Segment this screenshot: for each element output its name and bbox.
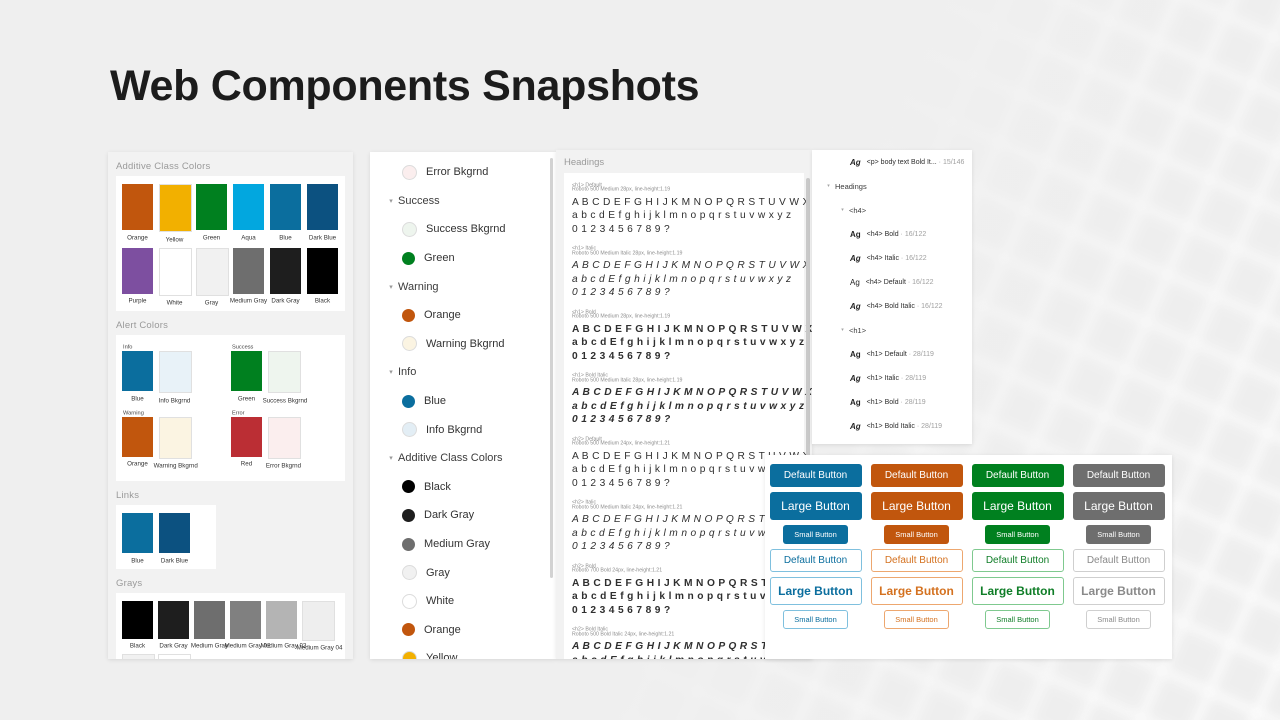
swatch-chip: [159, 513, 190, 553]
specimen-glyph-line: 0 1 2 3 4 5 6 7 8 9 ?: [572, 286, 796, 300]
swatch-label: White: [154, 299, 196, 306]
swatch-row: OrangeWarning Bkgrnd: [122, 417, 231, 468]
swatch-label: Blue: [117, 557, 159, 564]
filled-blue-default-button[interactable]: Default Button: [770, 464, 862, 487]
swatch-label: Blue: [117, 395, 159, 402]
button-cell: Default Button: [765, 549, 866, 572]
card-additive-class-colors: OrangeYellowGreenAquaBlueDark BluePurple…: [116, 176, 345, 311]
specimen-glyph-line: A B C D E F G H I J K M N O P Q R S T U …: [572, 513, 796, 527]
filled-gray-default-button[interactable]: Default Button: [1073, 464, 1165, 487]
swatch-chip: [122, 601, 153, 639]
type-specimen-block: <h1> DefaultRoboto 500 Medium 28px, line…: [572, 182, 796, 236]
color-swatch: Error Bkgrnd: [268, 417, 299, 468]
color-swatch: Warning Bkgrnd: [159, 417, 190, 468]
color-dot-icon: [402, 480, 415, 493]
button-cell: Default Button: [866, 464, 967, 487]
swatch-label: Purple: [117, 297, 159, 304]
tree-group-row[interactable]: ▾Success: [370, 187, 556, 216]
color-swatch: Orange: [122, 417, 153, 468]
filled-blue-large-button[interactable]: Large Button: [770, 492, 862, 520]
ag-preview-icon: Ag: [850, 230, 861, 239]
filled-orange-small-button[interactable]: Small Button: [884, 525, 949, 544]
type-style-name: <p> body text Bold It...: [867, 159, 937, 166]
alert-group-label: Success: [232, 343, 354, 350]
alert-color-group: ErrorRedError Bkgrnd: [231, 409, 340, 468]
specimen-glyphs: A B C D E F G H I J K M N O P Q R S T U …: [572, 513, 796, 554]
color-dot-icon: [402, 594, 417, 609]
panel-color-tree: Error Bkgrnd▾SuccessSuccess BkgrndGreen▾…: [370, 152, 556, 659]
swatch-chip: [159, 351, 192, 393]
tree-group-label: Success: [398, 195, 440, 207]
ag-preview-icon: Ag: [850, 158, 861, 167]
specimen-glyph-line: 0 1 2 3 4 5 6 7 8 9 ?: [572, 413, 796, 427]
button-cell: Large Button: [866, 577, 967, 605]
swatch-label: Black: [302, 297, 344, 304]
color-swatch: Medium Gray 03: [266, 601, 297, 650]
specimen-font-meta: Roboto 500 Medium 28px, line-height:1.19: [572, 313, 812, 320]
ag-preview-icon: Ag: [850, 302, 861, 311]
type-style-name: <h1> Italic: [867, 375, 899, 382]
color-dot-icon: [402, 309, 415, 322]
swatch-chip: [122, 513, 153, 553]
tree-color-row[interactable]: White: [370, 587, 556, 616]
swatch-chip: [307, 248, 338, 294]
type-group-row[interactable]: ▾<h2>: [812, 438, 972, 444]
section-title-additive-class-colors: Additive Class Colors: [116, 161, 353, 172]
swatch-label: Green: [191, 234, 233, 241]
specimen-font-meta: Roboto 500 Medium Italic 28px, line-heig…: [572, 250, 812, 257]
type-style-name: <h4> Bold Italic: [867, 303, 915, 310]
tree-color-row[interactable]: Black: [370, 473, 556, 502]
color-swatch: Yellow: [159, 184, 190, 241]
swatch-chip: [122, 184, 153, 230]
type-style-size: · 28/119: [907, 351, 934, 358]
color-swatch: Dark Blue: [307, 184, 338, 241]
specimen-glyph-line: a b c d E f g h i j k l m n o p q r s t …: [572, 400, 796, 414]
button-row: Default ButtonDefault ButtonDefault Butt…: [765, 549, 1172, 572]
type-specimen-block: <h1> BoldRoboto 500 Medium 28px, line-he…: [572, 309, 796, 363]
ag-preview-icon: Ag: [850, 422, 861, 431]
type-style-size: · 28/119: [899, 375, 926, 382]
tree-color-label: Medium Gray: [424, 538, 490, 550]
swatch-row: OrangeYellowGreenAquaBlueDark Blue: [122, 184, 339, 241]
type-specimen-block: <h2> Bold ItalicRoboto 500 Bold Italic 2…: [572, 626, 796, 659]
color-swatch: Green: [196, 184, 227, 241]
button-cell: Small Button: [866, 610, 967, 629]
chevron-down-icon[interactable]: ▾: [384, 283, 398, 291]
specimen-glyph-line: 0 1 2 3 4 5 6 7 8 9 ?: [572, 540, 796, 554]
button-cell: Large Button: [1068, 577, 1169, 605]
tree-group-row[interactable]: ▾Info: [370, 358, 556, 387]
type-style-row[interactable]: Ag<h1> Bold · 28/119: [812, 390, 972, 414]
specimen-glyph-line: a b c d E f g h i j k l m n o p q r s t …: [572, 527, 796, 541]
specimen-glyph-line: A B C D E F G H I J K M N O P Q R S T U …: [572, 196, 796, 210]
color-dot-icon: [402, 252, 415, 265]
button-cell: Small Button: [765, 525, 866, 544]
filled-green-large-button[interactable]: Large Button: [972, 492, 1064, 520]
specimen-glyph-line: A B C D E F G H I J K M N O P Q R S T U …: [572, 386, 796, 400]
swatch-row: PurpleWhiteGrayMedium GrayDark GrayBlack: [122, 248, 339, 305]
color-swatch: Black: [122, 601, 153, 650]
color-swatch: Dark Blue: [159, 513, 190, 562]
swatch-row: BlackDark GrayMedium GrayMedium Gray 02M…: [122, 601, 339, 650]
color-dot-icon: [402, 623, 415, 636]
button-cell: Default Button: [1068, 464, 1169, 487]
type-specimen-block: <h2> BoldRoboto 700 Bold 24px, line-heig…: [572, 563, 796, 617]
type-style-size: · 16/122: [915, 303, 943, 310]
type-style-row[interactable]: Ag<h4> Bold Italic · 16/122: [812, 294, 972, 318]
color-swatch: Green: [231, 351, 262, 402]
specimen-glyph-line: a b c d E f g h i j k l m n o p q r s t …: [572, 654, 796, 659]
color-swatch: Gray: [196, 248, 227, 305]
type-style-row[interactable]: Ag<h1> Bold Italic · 28/119: [812, 414, 972, 438]
swatch-row: GrayWhite: [122, 654, 339, 659]
button-row: Large ButtonLarge ButtonLarge ButtonLarg…: [765, 492, 1172, 520]
specimen-glyph-line: 0 1 2 3 4 5 6 7 8 9 ?: [572, 350, 796, 364]
swatch-row: BlueDark Blue: [122, 513, 210, 562]
swatch-chip: [194, 601, 225, 639]
color-swatch: Aqua: [233, 184, 264, 241]
section-title-grays: Grays: [116, 578, 353, 589]
swatch-chip: [230, 601, 261, 639]
button-cell: Large Button: [765, 492, 866, 520]
tree-color-row[interactable]: Warning Bkgrnd: [370, 330, 556, 359]
swatch-chip: [307, 184, 338, 230]
outline-orange-small-button[interactable]: Small Button: [884, 610, 949, 629]
tree-color-row[interactable]: Yellow: [370, 644, 556, 659]
color-swatch: Medium Gray 04: [302, 601, 333, 650]
typography-style-list: Ag<p> body text Bold It... · 15/146▾Head…: [812, 150, 972, 444]
type-style-size: · 28/119: [915, 423, 942, 430]
swatch-chip: [231, 351, 262, 391]
specimen-glyphs: A B C D E F G H I J K M N O P Q R S T U …: [572, 640, 796, 659]
tree-color-row[interactable]: Gray: [370, 558, 556, 587]
tree-color-row[interactable]: Dark Gray: [370, 501, 556, 530]
color-swatch: Medium Gray: [194, 601, 225, 650]
type-style-size: · 16/122: [906, 279, 934, 286]
color-swatch: White: [158, 654, 189, 659]
specimen-font-meta: Roboto 500 Medium Italic 28px, line-heig…: [572, 377, 812, 384]
panel-typography-tree: Ag<p> body text Bold It... · 15/146▾Head…: [812, 150, 972, 444]
swatch-label: Orange: [117, 234, 159, 241]
filled-orange-large-button[interactable]: Large Button: [871, 492, 963, 520]
specimen-glyph-line: a b c d E f g h i j k l m n o p q r s t …: [572, 209, 796, 223]
section-title-alert-colors: Alert Colors: [116, 320, 353, 331]
specimen-glyphs: A B C D E F G H I J K M N O P Q R S T U …: [572, 577, 796, 618]
outline-blue-default-button[interactable]: Default Button: [770, 549, 862, 572]
swatch-label: Medium Gray: [228, 297, 270, 304]
swatch-label: Warning Bkgrnd: [154, 462, 196, 469]
tree-group-label: Info: [398, 366, 416, 378]
swatch-chip: [122, 248, 153, 294]
specimen-glyph-line: A B C D E F G H I J K M N O P Q R S T U …: [572, 259, 796, 273]
swatch-label: Dark Blue: [154, 557, 196, 564]
ag-preview-icon: Ag: [850, 254, 861, 263]
swatch-label: Info Bkgrnd: [154, 397, 196, 404]
specimen-glyph-line: A B C D E F G H I J K M N O P Q R S T U …: [572, 577, 796, 591]
color-tree-list: Error Bkgrnd▾SuccessSuccess BkgrndGreen▾…: [370, 152, 556, 659]
card-grays: BlackDark GrayMedium GrayMedium Gray 02M…: [116, 593, 345, 659]
card-alert-colors: InfoBlueInfo BkgrndSuccessGreenSuccess B…: [116, 335, 345, 481]
chevron-down-icon[interactable]: ▾: [822, 183, 835, 189]
swatch-chip: [233, 248, 264, 294]
color-swatch: White: [159, 248, 190, 305]
panel-buttons: Default ButtonDefault ButtonDefault Butt…: [765, 455, 1172, 659]
alert-color-grid: InfoBlueInfo BkgrndSuccessGreenSuccess B…: [122, 343, 339, 474]
swatch-chip: [268, 351, 301, 393]
tree-color-label: Green: [424, 252, 455, 264]
color-swatch: Info Bkgrnd: [159, 351, 190, 402]
swatch-chip: [122, 351, 153, 391]
button-cell: Large Button: [967, 492, 1068, 520]
button-cell: Default Button: [1068, 549, 1169, 572]
swatch-label: Gray: [191, 299, 233, 306]
color-swatch: Medium Gray 02: [230, 601, 261, 650]
filled-gray-small-button[interactable]: Small Button: [1086, 525, 1151, 544]
type-style-row[interactable]: Ag<h1> Italic · 28/119: [812, 366, 972, 390]
type-style-name: <h1> Bold Italic: [867, 423, 915, 430]
alert-color-group: SuccessGreenSuccess Bkgrnd: [231, 343, 340, 402]
outline-green-small-button[interactable]: Small Button: [985, 610, 1050, 629]
specimen-glyphs: A B C D E F G H I J K M N O P Q R S T U …: [572, 259, 796, 300]
outline-blue-large-button[interactable]: Large Button: [770, 577, 862, 605]
type-group-label: Headings: [835, 182, 867, 191]
swatch-chip: [122, 654, 155, 659]
ag-preview-icon: Ag: [850, 278, 860, 287]
swatch-label: Success Bkgrnd: [262, 397, 304, 404]
tree-color-row[interactable]: Orange: [370, 301, 556, 330]
specimen-glyphs: A B C D E F G H I J K M N O P Q R S T U …: [572, 386, 796, 427]
color-dot-icon: [402, 651, 417, 659]
type-style-row[interactable]: Ag<h4> Bold · 16/122: [812, 222, 972, 246]
color-swatch: Blue: [122, 351, 153, 402]
swatch-chip: [270, 248, 301, 294]
outline-gray-default-button[interactable]: Default Button: [1073, 549, 1165, 572]
outline-gray-small-button[interactable]: Small Button: [1086, 610, 1151, 629]
swatch-row: BlueInfo Bkgrnd: [122, 351, 231, 402]
type-style-name: <h4> Bold: [867, 231, 899, 238]
specimen-glyph-line: A B C D E F G H I J K M N O P Q R S T U …: [572, 323, 796, 337]
swatch-chip: [159, 184, 192, 232]
tree-group-row[interactable]: ▾Additive Class Colors: [370, 444, 556, 473]
button-cell: Small Button: [1068, 525, 1169, 544]
type-style-name: <h4> Italic: [867, 255, 899, 262]
swatch-label: Dark Blue: [302, 234, 344, 241]
card-links: BlueDark Blue: [116, 505, 216, 569]
type-specimen-block: <h1> ItalicRoboto 500 Medium Italic 28px…: [572, 245, 796, 299]
specimen-glyph-line: a b c d E f g h i j k l m n o p q r s t …: [572, 273, 796, 287]
page-title: Web Components Snapshots: [110, 62, 699, 111]
tree-color-label: Blue: [424, 395, 446, 407]
tree-color-label: White: [426, 595, 454, 607]
filled-gray-large-button[interactable]: Large Button: [1073, 492, 1165, 520]
color-swatch: Black: [307, 248, 338, 305]
panel-color-swatches: Additive Class Colors OrangeYellowGreenA…: [108, 152, 353, 659]
tree-color-label: Orange: [424, 624, 461, 636]
swatch-chip: [159, 417, 192, 459]
ag-preview-icon: Ag: [850, 374, 861, 383]
color-swatch: Blue: [270, 184, 301, 241]
button-cell: Default Button: [967, 464, 1068, 487]
section-title-links: Links: [116, 490, 353, 501]
swatch-chip: [158, 601, 189, 639]
panel-headings-title: Headings: [564, 157, 812, 168]
type-style-name: <h1> Bold: [867, 399, 899, 406]
tree-group-label: Additive Class Colors: [398, 452, 503, 464]
tree-color-row[interactable]: Info Bkgrnd: [370, 415, 556, 444]
chevron-down-icon[interactable]: ▾: [384, 368, 398, 376]
vertical-scrollbar[interactable]: [550, 158, 553, 578]
tree-group-label: Warning: [398, 281, 439, 293]
swatch-chip: [302, 601, 335, 641]
type-style-size: · 16/122: [899, 231, 927, 238]
specimen-glyph-line: 0 1 2 3 4 5 6 7 8 9 ?: [572, 477, 796, 491]
swatch-chip: [268, 417, 301, 459]
color-dot-icon: [402, 336, 417, 351]
color-dot-icon: [402, 422, 417, 437]
specimen-font-meta: Roboto 500 Medium 28px, line-height:1.19: [572, 186, 812, 193]
type-group-row[interactable]: ▾<h1>: [812, 318, 972, 342]
color-swatch: Purple: [122, 248, 153, 305]
alert-group-label: Error: [232, 409, 354, 416]
button-row: Large ButtonLarge ButtonLarge ButtonLarg…: [765, 577, 1172, 605]
button-cell: Small Button: [967, 525, 1068, 544]
button-cell: Small Button: [765, 610, 866, 629]
chevron-down-icon[interactable]: ▾: [384, 197, 398, 205]
button-cell: Small Button: [1068, 610, 1169, 629]
button-cell: Large Button: [967, 577, 1068, 605]
type-group-row[interactable]: ▾<h4>: [812, 198, 972, 222]
swatch-label: Orange: [117, 460, 159, 467]
filled-blue-small-button[interactable]: Small Button: [783, 525, 848, 544]
tree-color-row[interactable]: Medium Gray: [370, 530, 556, 559]
filled-green-default-button[interactable]: Default Button: [972, 464, 1064, 487]
specimen-glyphs: A B C D E F G H I J K M N O P Q R S T U …: [572, 450, 796, 491]
tree-color-label: Warning Bkgrnd: [426, 338, 504, 350]
chevron-down-icon[interactable]: ▾: [384, 454, 398, 462]
swatch-label: Yellow: [154, 236, 196, 243]
color-dot-icon: [402, 222, 417, 237]
button-cell: Large Button: [866, 492, 967, 520]
row-gap: [765, 629, 1172, 634]
tree-color-row[interactable]: Blue: [370, 387, 556, 416]
color-swatch: Orange: [122, 184, 153, 241]
tree-color-label: Info Bkgrnd: [426, 424, 482, 436]
specimen-glyph-line: A B C D E F G H I J K M N O P Q R S T U …: [572, 450, 796, 464]
tree-color-row[interactable]: Error Bkgrnd: [370, 158, 556, 187]
specimen-font-meta: Roboto 500 Medium 24px, line-height:1.21: [572, 440, 812, 447]
swatch-chip: [158, 654, 191, 659]
type-specimen-block: <h2> ItalicRoboto 500 Medium Italic 24px…: [572, 499, 796, 553]
type-style-row[interactable]: Ag<h1> Default · 28/119: [812, 342, 972, 366]
button-row: Small ButtonSmall ButtonSmall ButtonSmal…: [765, 525, 1172, 544]
specimen-glyph-line: a b c d E f g h i j k l m n o p q r s t …: [572, 336, 796, 350]
outline-gray-large-button[interactable]: Large Button: [1073, 577, 1165, 605]
tree-group-row[interactable]: ▾Warning: [370, 272, 556, 301]
outline-orange-default-button[interactable]: Default Button: [871, 549, 963, 572]
chevron-down-icon[interactable]: ▾: [836, 327, 849, 333]
type-style-size: · 28/119: [899, 399, 926, 406]
tree-color-label: Yellow: [426, 652, 457, 659]
ag-preview-icon: Ag: [850, 398, 861, 407]
tree-color-row[interactable]: Orange: [370, 616, 556, 645]
tree-color-label: Dark Gray: [424, 509, 474, 521]
swatch-chip: [122, 417, 153, 457]
filled-green-small-button[interactable]: Small Button: [985, 525, 1050, 544]
type-style-row[interactable]: Ag<h4> Italic · 16/122: [812, 246, 972, 270]
outline-green-large-button[interactable]: Large Button: [972, 577, 1064, 605]
type-style-name: <h4> Default: [866, 279, 906, 286]
swatch-label: Green: [225, 395, 267, 402]
specimen-glyphs: A B C D E F G H I J K M N O P Q R S T U …: [572, 323, 796, 364]
button-row: Default ButtonDefault ButtonDefault Butt…: [765, 464, 1172, 487]
tree-color-label: Black: [424, 481, 451, 493]
button-cell: Default Button: [967, 549, 1068, 572]
swatch-chip: [196, 248, 229, 296]
swatch-chip: [196, 184, 227, 230]
tree-color-label: Success Bkgrnd: [426, 223, 505, 235]
specimen-glyph-line: a b c d E f g h i j k l m n o p q r s t …: [572, 590, 796, 604]
button-cell: Small Button: [967, 610, 1068, 629]
type-group-label: <h1>: [849, 326, 866, 335]
tree-color-row[interactable]: Success Bkgrnd: [370, 215, 556, 244]
color-swatch: Medium Gray: [233, 248, 264, 305]
button-cell: Default Button: [866, 549, 967, 572]
tree-color-label: Error Bkgrnd: [426, 166, 488, 178]
swatch-label: Blue: [265, 234, 307, 241]
swatch-row: GreenSuccess Bkgrnd: [231, 351, 340, 402]
color-dot-icon: [402, 165, 417, 180]
specimen-glyph-line: 0 1 2 3 4 5 6 7 8 9 ?: [572, 223, 796, 237]
type-style-name: <h1> Default: [867, 351, 907, 358]
type-style-row[interactable]: Ag<p> body text Bold It... · 15/146: [812, 150, 972, 174]
specimen-glyph-line: a b c d E f g h i j k l m n o p q r s t …: [572, 463, 796, 477]
button-cell: Small Button: [866, 525, 967, 544]
color-dot-icon: [402, 565, 417, 580]
tree-color-row[interactable]: Green: [370, 244, 556, 273]
button-grid: Default ButtonDefault ButtonDefault Butt…: [765, 455, 1172, 634]
button-cell: Large Button: [765, 577, 866, 605]
filled-orange-default-button[interactable]: Default Button: [871, 464, 963, 487]
swatch-chip: [270, 184, 301, 230]
tree-color-label: Orange: [424, 309, 461, 321]
button-cell: Default Button: [765, 464, 866, 487]
outline-blue-small-button[interactable]: Small Button: [783, 610, 848, 629]
ag-preview-icon: Ag: [850, 350, 861, 359]
alert-color-group: WarningOrangeWarning Bkgrnd: [122, 409, 231, 468]
swatch-chip: [266, 601, 297, 639]
color-swatch: Red: [231, 417, 262, 468]
outline-green-default-button[interactable]: Default Button: [972, 549, 1064, 572]
button-cell: Large Button: [1068, 492, 1169, 520]
color-swatch: Blue: [122, 513, 153, 562]
color-dot-icon: [402, 538, 415, 551]
swatch-chip: [231, 417, 262, 457]
color-swatch: Dark Gray: [270, 248, 301, 305]
tree-color-label: Gray: [426, 567, 450, 579]
chevron-down-icon[interactable]: ▾: [836, 207, 849, 213]
color-swatch: Dark Gray: [158, 601, 189, 650]
swatch-label: Error Bkgrnd: [262, 462, 304, 469]
type-style-row[interactable]: Ag<h4> Default · 16/122: [812, 270, 972, 294]
type-group-row[interactable]: ▾Headings: [812, 174, 972, 198]
type-style-size: · 16/122: [899, 255, 927, 262]
swatch-row: RedError Bkgrnd: [231, 417, 340, 468]
type-specimen-block: <h2> DefaultRoboto 500 Medium 24px, line…: [572, 436, 796, 490]
swatch-chip: [233, 184, 264, 230]
type-group-label: <h4>: [849, 206, 866, 215]
outline-orange-large-button[interactable]: Large Button: [871, 577, 963, 605]
